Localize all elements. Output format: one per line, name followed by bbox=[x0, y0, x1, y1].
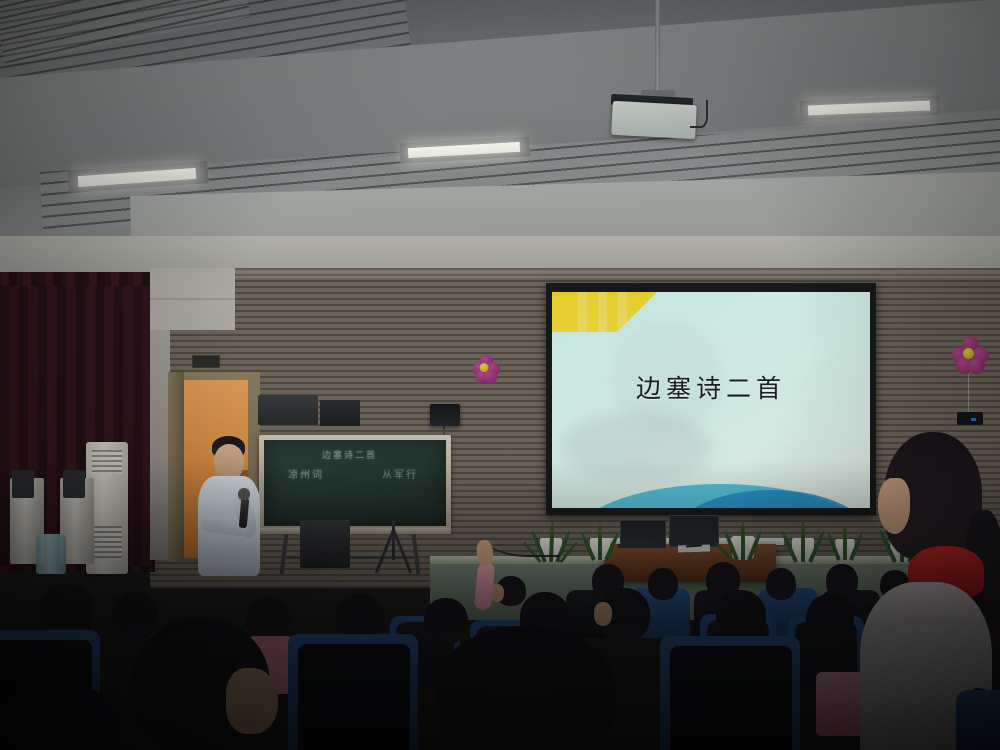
teacher-head bbox=[214, 444, 244, 480]
blackboard-tray bbox=[259, 528, 451, 534]
student-face-foreground bbox=[226, 668, 278, 734]
door-leaf bbox=[168, 372, 184, 562]
left-wall-panel-lower bbox=[150, 330, 170, 560]
water-dispenser-right-top bbox=[63, 470, 85, 498]
girl-face bbox=[878, 478, 910, 534]
blackboard: 边塞诗二首 凉州词 从军行 bbox=[264, 440, 446, 526]
classroom-photo: 边塞诗二首 边塞诗二首 凉州词 从军行 bbox=[0, 0, 1000, 750]
monitor bbox=[669, 515, 719, 547]
projection-screen: 边塞诗二首 bbox=[552, 292, 870, 508]
wall-flower-right bbox=[952, 336, 992, 374]
projector-cable bbox=[690, 100, 708, 128]
projector-pole bbox=[655, 0, 660, 96]
raised-hand bbox=[476, 539, 495, 567]
flower-hanging-string bbox=[968, 374, 969, 414]
blackboard-note-left: 凉州词 bbox=[288, 466, 324, 481]
seat bbox=[670, 646, 792, 750]
audience-foreground bbox=[0, 606, 1000, 750]
exit-sign bbox=[192, 355, 220, 368]
seat-edge-right bbox=[956, 690, 1000, 750]
blackboard-heading: 边塞诗二首 bbox=[322, 448, 377, 461]
slide-title: 边塞诗二首 bbox=[552, 369, 870, 405]
wall-flower-left bbox=[473, 355, 501, 381]
blackboard-note-right: 从军行 bbox=[382, 466, 418, 481]
student-head-foreground bbox=[0, 684, 120, 750]
projector bbox=[611, 101, 697, 139]
left-wall-panel bbox=[150, 268, 235, 330]
wall-mounted-device bbox=[957, 412, 983, 425]
microphone-head bbox=[238, 488, 250, 500]
student-head-foreground bbox=[436, 626, 616, 750]
side-equipment-dark bbox=[320, 400, 360, 426]
seat bbox=[298, 644, 410, 750]
wall-speaker bbox=[430, 404, 460, 426]
water-dispenser-left-top bbox=[12, 470, 34, 498]
slide-wave-graphic bbox=[552, 450, 870, 508]
slide-sun-graphic bbox=[552, 292, 657, 332]
side-cabinet bbox=[258, 395, 318, 425]
air-conditioner-vent-top bbox=[92, 450, 122, 474]
